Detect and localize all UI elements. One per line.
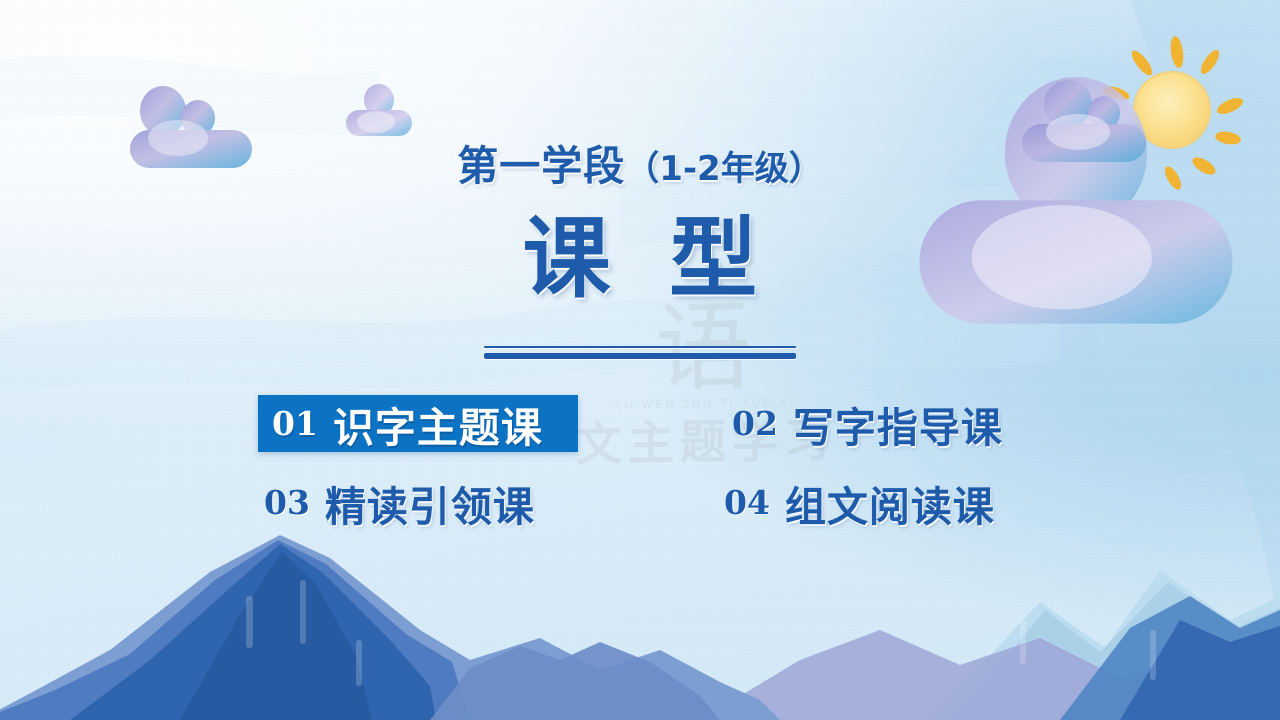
list-item-04[interactable]: 04 组文阅读课 [718,474,1038,531]
page-subtitle-grade: （1-2年级） [625,149,822,189]
list-item-label: 组文阅读课 [785,473,995,533]
list-item-label: 写字指导课 [793,394,1003,454]
list-item-label: 精读引领课 [325,473,535,533]
list-item-label: 识字主题课 [333,394,543,454]
divider-line-thick [484,353,796,359]
list-item-03[interactable]: 03 精读引领课 [258,474,578,531]
list-item-number: 02 [732,404,778,443]
course-type-list: 01 识字主题课 02 写字指导课 03 精读引领课 04 组文阅读课 [258,395,1068,531]
page-subtitle: 第一学段（1-2年级） [0,132,1280,192]
page-subtitle-main: 第一学段 [457,142,625,190]
slide-content: 第一学段（1-2年级） 课 型 01 识字主题课 02 写字指导课 03 精读引… [0,0,1280,720]
list-item-01[interactable]: 01 识字主题课 [258,395,578,452]
page-title: 课 型 [0,213,1280,305]
list-item-number: 04 [724,483,770,522]
list-item-number: 03 [264,483,310,522]
list-item-number: 01 [272,404,318,443]
title-divider [484,346,796,359]
list-item-02[interactable]: 02 写字指导课 [718,395,1038,452]
slide-canvas: 语 YU WEN ZHU TI XUE XI 文主题学习 [0,0,1280,720]
divider-line-thin [484,346,796,348]
